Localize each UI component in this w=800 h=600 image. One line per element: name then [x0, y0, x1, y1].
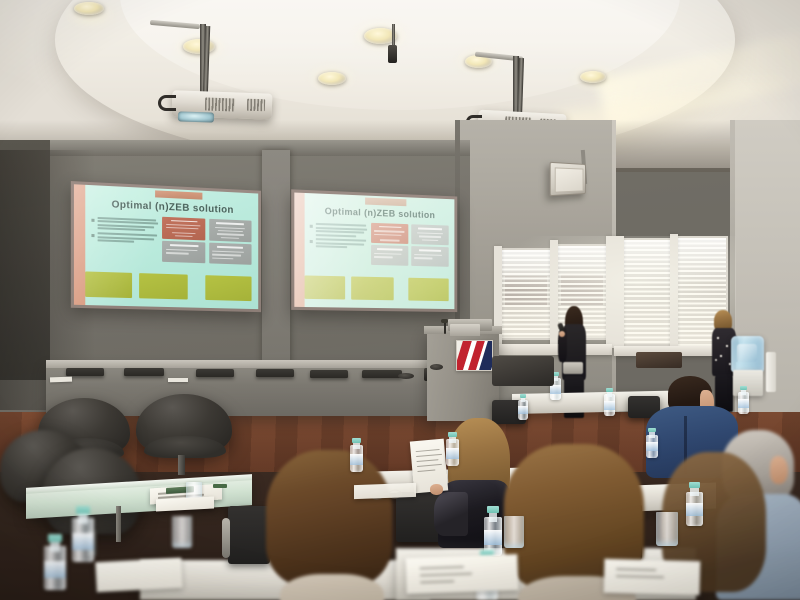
downlight-3	[318, 72, 346, 85]
window-mullion-2	[606, 236, 624, 348]
presenter-papers	[563, 362, 583, 374]
slide-matrix-cell-cost-optimal	[162, 240, 205, 263]
window-mullion-3	[670, 234, 678, 350]
speaker-grille	[555, 167, 584, 192]
attendee-reading-sleeve	[434, 492, 468, 536]
water-bottle-11[interactable]	[44, 534, 66, 590]
slide-accent-bar	[74, 184, 85, 305]
sideboard-right	[492, 356, 554, 386]
conference-room-photo: Optimal (n)ZEB solution	[0, 0, 800, 600]
water-bottle-7[interactable]	[686, 482, 703, 526]
panel-desk-paper-2	[168, 378, 188, 382]
right-screen-surface: Optimal (n)ZEB solution	[294, 193, 454, 310]
bullet-marker-icon	[91, 234, 94, 237]
slide-matrix	[371, 223, 448, 268]
slide-bullet	[91, 232, 159, 244]
presenter-hand	[559, 331, 565, 337]
downlight-1	[183, 39, 215, 54]
bullet-text-lines	[97, 232, 158, 244]
window-sill-left	[494, 344, 612, 355]
left-projector-cable-loop	[158, 95, 176, 111]
water-bottle-2[interactable]	[446, 432, 459, 466]
slide-matrix	[162, 217, 251, 265]
drinking-glass-1[interactable]	[656, 512, 678, 546]
water-bottle-8[interactable]	[484, 506, 502, 556]
slide-bullet-list	[91, 216, 159, 246]
panel-seat-5[interactable]	[310, 370, 348, 378]
table-document-foreground[interactable]	[405, 554, 518, 594]
left-projector-vent-2	[247, 99, 265, 112]
attendee-fg-left-hair	[266, 450, 392, 586]
panel-seat-6[interactable]	[362, 370, 402, 378]
slide-left: Optimal (n)ZEB solution	[74, 184, 258, 309]
wall-mounted-speaker	[550, 162, 586, 197]
left-projector-lens	[178, 111, 214, 122]
window-backlight-3	[624, 240, 670, 344]
slide-matrix-cell-reference-building	[209, 219, 251, 242]
panel-seat-3[interactable]	[196, 369, 234, 377]
slide-footer-box-3	[206, 275, 252, 301]
bullet-marker-icon	[91, 218, 94, 221]
window-panel-3	[622, 238, 672, 346]
bullet-marker-icon	[309, 240, 312, 243]
wall-divider-column	[262, 150, 290, 365]
bullet-text-lines	[315, 238, 368, 249]
table-marker	[213, 484, 227, 488]
ceiling-pendant-sensor	[388, 45, 397, 63]
chair-back-right	[636, 352, 682, 368]
slide-footer-boxes	[85, 271, 251, 300]
slide-bullet	[309, 223, 368, 238]
slide-footer-box-3	[409, 277, 449, 301]
water-bottle-4[interactable]	[604, 388, 615, 416]
institution-logo	[456, 340, 493, 371]
panel-desk-top	[46, 360, 458, 368]
glass-table-leg	[116, 506, 121, 542]
table-document-foreground-left[interactable]	[95, 558, 182, 592]
mesh-chair-1-arm	[222, 518, 230, 558]
lectern-mic-head	[441, 319, 448, 323]
lectern-laptop[interactable]	[450, 324, 480, 336]
slide-title: Optimal (n)ZEB solution	[93, 198, 251, 216]
swan-lounge-chair-2-stem	[178, 455, 185, 475]
slide-footer-box-1	[304, 275, 345, 300]
downlight-6	[580, 71, 606, 83]
right-projection-screen: Optimal (n)ZEB solution	[291, 189, 457, 312]
table-document-foreground-right[interactable]	[604, 559, 701, 596]
slide-bullet	[91, 216, 159, 232]
water-bottle-1[interactable]	[350, 438, 363, 472]
lectern-mic-stand	[444, 322, 446, 334]
drinking-glass-3[interactable]	[172, 516, 192, 548]
water-cooler-jug	[731, 336, 764, 372]
slide-matrix-cell-cost-optimal	[371, 245, 408, 266]
left-projection-screen: Optimal (n)ZEB solution	[71, 181, 261, 312]
panel-seat-4[interactable]	[256, 369, 294, 377]
attendee-foreground-left	[258, 450, 402, 600]
slide-bullet	[309, 238, 368, 249]
panel-desk-paper-1	[50, 377, 72, 383]
slide-matrix-cell-existing-building	[162, 217, 205, 240]
slide-matrix-cell-sensitivity	[209, 242, 251, 265]
slide-footer-box-2	[351, 276, 393, 300]
water-cooler-label	[737, 344, 757, 362]
downlight-5	[74, 2, 104, 15]
bullet-text-lines	[315, 223, 368, 238]
slide-title: Optimal (n)ZEB solution	[311, 206, 448, 221]
water-bottle-6[interactable]	[738, 386, 749, 414]
slide-matrix-cell-reference-building	[412, 224, 449, 245]
slide-header-tab	[365, 197, 406, 206]
slide-footer-box-2	[139, 273, 188, 299]
water-bottle-5[interactable]	[646, 428, 658, 458]
left-projector-vent	[205, 97, 235, 111]
window-panel-1	[500, 248, 552, 340]
lectern-side-device	[430, 364, 443, 370]
slide-matrix-cell-existing-building	[371, 223, 408, 245]
attendee-fg-left-shoulders	[280, 574, 384, 600]
slide-accent-bar	[294, 193, 304, 307]
attendee-reading-hand	[430, 484, 443, 495]
slide-bullet-list	[309, 223, 368, 252]
bullet-marker-icon	[309, 225, 312, 228]
slide-footer-box-1	[85, 271, 132, 297]
water-bottle-10[interactable]	[72, 506, 94, 562]
swan-lounge-chair-2-seat	[144, 436, 226, 458]
drinking-glass-2[interactable]	[504, 516, 524, 548]
window-backlight-1	[502, 250, 550, 338]
slide-matrix-cell-sensitivity	[412, 246, 449, 267]
slide-right: Optimal (n)ZEB solution	[294, 193, 454, 310]
cooler-cup-dispenser[interactable]	[766, 352, 776, 392]
panel-desk-microphone[interactable]	[398, 373, 414, 379]
slide-header-tab	[155, 190, 203, 200]
panel-seat-2[interactable]	[124, 368, 164, 376]
left-screen-surface: Optimal (n)ZEB solution	[74, 184, 258, 309]
bullet-text-lines	[97, 217, 158, 232]
table-document-center	[354, 483, 416, 499]
slide-footer-boxes	[304, 275, 448, 301]
panel-seat-1[interactable]	[66, 368, 104, 376]
water-bottle-12[interactable]	[518, 394, 528, 420]
